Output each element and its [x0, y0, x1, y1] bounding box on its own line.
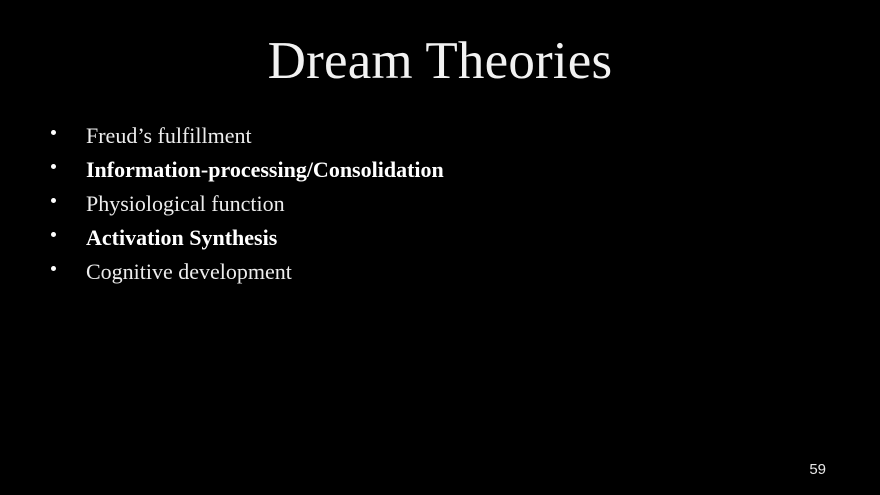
bullet-dot-icon [51, 130, 56, 135]
list-item: Freud’s fulfillment [46, 119, 846, 153]
bullet-item-label: Freud’s fulfillment [86, 123, 252, 149]
list-item: Information-processing/Consolidation [46, 153, 846, 187]
bullet-item-label: Information-processing/Consolidation [86, 157, 444, 183]
bullet-list: Freud’s fulfillment Information-processi… [46, 119, 846, 289]
page-number: 59 [809, 461, 826, 479]
bullet-item-label: Physiological function [86, 191, 285, 217]
bullet-dot-icon [51, 198, 56, 203]
bullet-item-label: Activation Synthesis [86, 225, 277, 251]
list-item: Cognitive development [46, 255, 846, 289]
page-title: Dream Theories [0, 30, 880, 92]
bullet-dot-icon [51, 232, 56, 237]
presentation-slide: Dream Theories Freud’s fulfillment Infor… [0, 0, 880, 495]
bullet-dot-icon [51, 164, 56, 169]
bullet-item-label: Cognitive development [86, 259, 292, 285]
list-item: Physiological function [46, 187, 846, 221]
list-item: Activation Synthesis [46, 221, 846, 255]
bullet-dot-icon [51, 266, 56, 271]
